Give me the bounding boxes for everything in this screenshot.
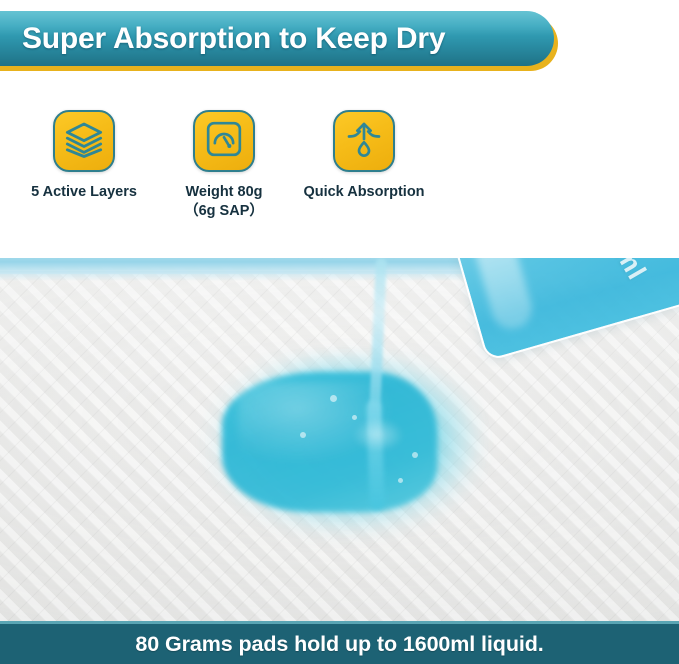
page-title: Super Absorption to Keep Dry [22, 22, 445, 56]
liquid-bubble [412, 452, 418, 458]
feature-item-weight: Weight 80g （6g SAP） [154, 110, 294, 250]
banner-fill: Super Absorption to Keep Dry [0, 11, 554, 66]
header-banner: Super Absorption to Keep Dry [0, 11, 558, 71]
feature-label-absorption: Quick Absorption [303, 183, 424, 202]
liquid-splash [352, 418, 404, 452]
gauge-meter-icon [204, 119, 244, 164]
product-infographic: 00ml Super Absorption to Keep Dry [0, 0, 679, 664]
feature-list: 5 Active Layers Weight 80g （6g SAP） [14, 110, 434, 250]
feature-weight-main: Weight 80g [185, 184, 262, 200]
stacked-layers-icon [64, 119, 104, 164]
footer-banner: 80 Grams pads hold up to 1600ml liquid. [0, 621, 679, 664]
absorption-droplet-arrow-icon [344, 119, 384, 164]
feature-weight-sub: （6g SAP） [184, 202, 264, 221]
feature-label-weight: Weight 80g （6g SAP） [184, 183, 264, 221]
liquid-bubble [300, 432, 306, 438]
liquid-bubble [398, 478, 403, 483]
stacked-layers-icon-tile [53, 110, 115, 172]
gauge-meter-icon-tile [193, 110, 255, 172]
feature-item-absorption: Quick Absorption [294, 110, 434, 250]
liquid-bubble [330, 395, 337, 402]
feature-item-layers: 5 Active Layers [14, 110, 154, 250]
footer-claim-text: 80 Grams pads hold up to 1600ml liquid. [135, 632, 543, 657]
absorption-droplet-arrow-icon-tile [333, 110, 395, 172]
feature-label-layers: 5 Active Layers [31, 183, 137, 202]
